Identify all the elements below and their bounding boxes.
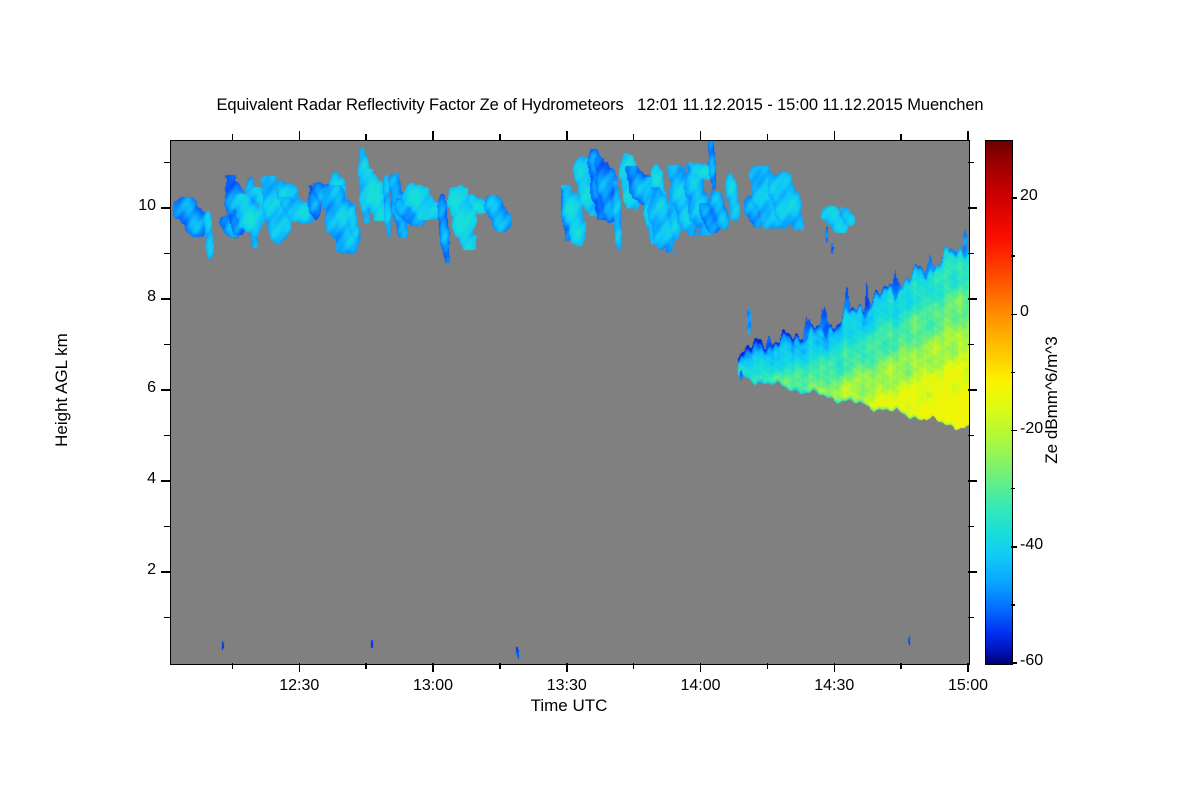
colorbar-tick-label: -20 [1020, 420, 1043, 438]
colorbar-tick-label: 0 [1020, 303, 1029, 321]
y-axis-label: Height AGL km [52, 320, 72, 460]
y-minor-tick [164, 253, 170, 255]
reflectivity-heatmap [171, 141, 969, 664]
y-major-tick-right [968, 480, 977, 482]
y-tick-label: 6 [147, 379, 156, 397]
y-minor-tick [164, 435, 170, 437]
colorbar-minor-tick [1011, 255, 1015, 257]
x-major-tick-top [834, 131, 836, 140]
colorbar-minor-tick [1011, 372, 1015, 374]
x-tick-label: 12:30 [259, 677, 339, 695]
y-minor-tick-right [968, 253, 974, 255]
colorbar-gradient [986, 141, 1012, 664]
x-minor-tick [365, 663, 367, 669]
x-minor-tick-top [900, 134, 902, 140]
y-major-tick [161, 480, 170, 482]
y-minor-tick [164, 162, 170, 164]
radar-reflectivity-figure: Equivalent Radar Reflectivity Factor Ze … [0, 0, 1200, 800]
y-tick-label: 10 [138, 197, 156, 215]
x-major-tick [967, 663, 969, 672]
plot-area [170, 140, 970, 665]
x-major-tick [700, 663, 702, 672]
y-minor-tick-right [968, 435, 974, 437]
y-minor-tick [164, 526, 170, 528]
y-minor-tick [164, 344, 170, 346]
y-minor-tick-right [968, 526, 974, 528]
y-major-tick-right [968, 298, 977, 300]
y-major-tick-right [968, 207, 977, 209]
x-major-tick [834, 663, 836, 672]
y-tick-label: 2 [147, 561, 156, 579]
x-major-tick-top [967, 131, 969, 140]
y-tick-label: 8 [147, 288, 156, 306]
colorbar [985, 140, 1013, 665]
x-major-tick-top [432, 131, 434, 140]
x-minor-tick [633, 663, 635, 669]
colorbar-major-tick [1011, 662, 1017, 664]
x-major-tick [432, 663, 434, 672]
x-minor-tick [767, 663, 769, 669]
y-tick-label: 4 [147, 470, 156, 488]
y-minor-tick-right [968, 617, 974, 619]
colorbar-minor-tick [1011, 488, 1015, 490]
x-major-tick [566, 663, 568, 672]
colorbar-major-tick [1011, 430, 1017, 432]
y-minor-tick-right [968, 344, 974, 346]
colorbar-major-tick [1011, 546, 1017, 548]
x-minor-tick-top [365, 134, 367, 140]
x-major-tick-top [566, 131, 568, 140]
y-major-tick [161, 571, 170, 573]
x-axis-label: Time UTC [170, 696, 968, 716]
x-major-tick-top [299, 131, 301, 140]
x-minor-tick-top [767, 134, 769, 140]
x-tick-label: 13:30 [527, 677, 607, 695]
y-major-tick-right [968, 571, 977, 573]
x-minor-tick-top [499, 134, 501, 140]
colorbar-tick-label: -40 [1020, 536, 1043, 554]
x-tick-label: 14:30 [794, 677, 874, 695]
y-minor-tick-right [968, 162, 974, 164]
x-tick-label: 15:00 [928, 677, 1008, 695]
y-minor-tick [164, 617, 170, 619]
y-major-tick-right [968, 389, 977, 391]
x-tick-label: 13:00 [393, 677, 473, 695]
y-major-tick [161, 298, 170, 300]
page-title: Equivalent Radar Reflectivity Factor Ze … [0, 96, 1200, 115]
colorbar-major-tick [1011, 314, 1017, 316]
x-tick-label: 14:00 [661, 677, 741, 695]
x-minor-tick [232, 663, 234, 669]
y-major-tick [161, 207, 170, 209]
x-minor-tick [499, 663, 501, 669]
colorbar-minor-tick [1011, 604, 1015, 606]
x-minor-tick [900, 663, 902, 669]
colorbar-major-tick [1011, 197, 1017, 199]
y-major-tick [161, 389, 170, 391]
colorbar-tick-label: 20 [1020, 187, 1038, 205]
colorbar-tick-label: -60 [1020, 652, 1043, 670]
x-major-tick-top [700, 131, 702, 140]
x-minor-tick-top [232, 134, 234, 140]
colorbar-label: Ze dBmm^6/m^3 [1042, 300, 1062, 500]
x-major-tick [299, 663, 301, 672]
x-minor-tick-top [633, 134, 635, 140]
